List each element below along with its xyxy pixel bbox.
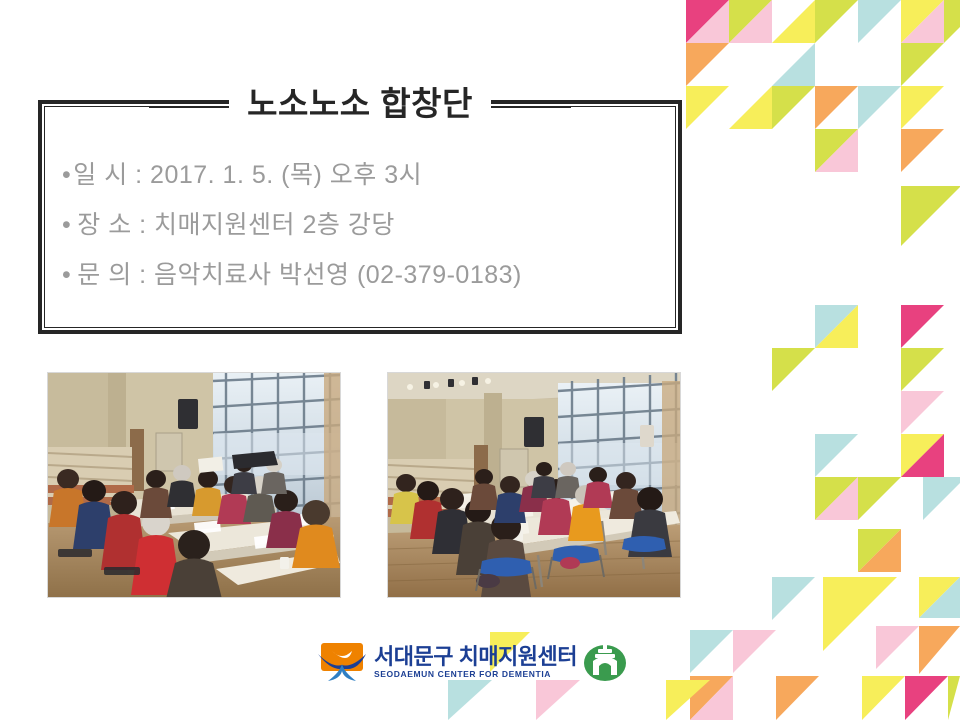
decorative-triangle — [862, 676, 905, 720]
page-title: 노소노소 합창단 — [229, 82, 491, 126]
decorative-triangle — [448, 680, 492, 720]
decorative-triangle — [901, 43, 944, 86]
decorative-triangle — [901, 391, 944, 434]
decorative-triangle — [858, 86, 901, 129]
decorative-triangle — [690, 676, 733, 720]
photo-right-graphic — [388, 373, 680, 597]
decorative-triangle — [772, 43, 815, 86]
decorative-triangle — [823, 577, 897, 651]
logo-text-block: 서대문구 치매지원센터 SEODAEMUN CENTER FOR DEMENTI… — [374, 645, 577, 680]
decorative-triangle — [815, 477, 858, 520]
list-item: • 문 의 : 음악치료사 박선영 (02-379-0183) — [62, 250, 672, 300]
list-item: • 일 시 : 2017. 1. 5. (목) 오후 3시 — [62, 150, 672, 200]
decorative-triangle — [690, 676, 733, 720]
decorative-triangle — [901, 186, 960, 246]
decorative-triangle — [944, 0, 960, 43]
decorative-triangle — [815, 0, 858, 43]
dementia-gate-badge-icon — [583, 641, 627, 683]
choir-rehearsal-photo-left — [47, 372, 341, 598]
title-rule-right — [491, 100, 571, 108]
decorative-triangle — [948, 676, 960, 720]
decorative-triangle — [686, 0, 729, 43]
decorative-triangle — [686, 43, 729, 86]
decorative-triangle — [901, 434, 944, 477]
decorative-triangle — [776, 676, 819, 720]
slide-canvas: 노소노소 합창단 • 일 시 : 2017. 1. 5. (목) 오후 3시 •… — [0, 0, 960, 720]
decorative-triangle — [901, 434, 944, 477]
decorative-triangle — [919, 577, 960, 618]
decorative-triangle — [901, 348, 944, 391]
decorative-triangle — [919, 626, 960, 674]
bullet-dot-icon: • — [62, 150, 71, 200]
decorative-triangle — [905, 676, 948, 720]
decorative-triangle — [772, 86, 815, 129]
decorative-triangle — [919, 577, 960, 618]
decorative-triangle — [815, 477, 858, 520]
seodaemun-symbol-icon — [316, 640, 368, 684]
title-rule-left — [149, 100, 229, 108]
decorative-triangle — [690, 630, 733, 673]
decorative-triangle — [772, 0, 815, 43]
decorative-triangle — [729, 0, 772, 43]
decorative-triangle — [686, 86, 729, 129]
decorative-triangle — [901, 0, 944, 43]
decorative-triangle — [729, 0, 772, 43]
choir-rehearsal-photo-right — [387, 372, 681, 598]
logo-name-english: SEODAEMUN CENTER FOR DEMENTIA — [374, 669, 577, 680]
title-banner: 노소노소 합창단 — [38, 80, 682, 128]
decorative-triangle — [815, 129, 858, 172]
logo-name-korean: 서대문구 치매지원센터 — [374, 645, 577, 669]
detail-list: • 일 시 : 2017. 1. 5. (목) 오후 3시 • 장 소 : 치매… — [62, 150, 672, 300]
detail-location: 장 소 : 치매지원센터 2층 강당 — [77, 200, 395, 250]
decorative-triangle — [666, 680, 710, 720]
decorative-triangle — [815, 305, 858, 348]
decorative-triangle — [536, 680, 580, 720]
decorative-triangle — [815, 86, 858, 129]
decorative-triangle — [901, 305, 944, 348]
decorative-triangle — [901, 86, 944, 129]
decorative-triangle — [923, 477, 960, 520]
bullet-dot-icon: • — [62, 200, 71, 250]
decorative-triangle — [815, 305, 858, 348]
decorative-triangle — [729, 86, 772, 129]
decorative-triangle — [772, 577, 815, 620]
decorative-triangle — [815, 434, 858, 477]
decorative-triangle — [858, 529, 901, 572]
detail-datetime: 일 시 : 2017. 1. 5. (목) 오후 3시 — [73, 150, 422, 200]
decorative-triangle — [901, 0, 944, 43]
decorative-triangle — [901, 129, 944, 172]
decorative-triangle — [858, 0, 901, 43]
decorative-triangle — [772, 348, 815, 391]
organization-logo: 서대문구 치매지원센터 SEODAEMUN CENTER FOR DEMENTI… — [316, 638, 648, 686]
decorative-triangle — [876, 626, 919, 669]
decorative-triangle — [858, 477, 901, 520]
decorative-triangle — [815, 129, 858, 172]
decorative-triangle — [858, 529, 901, 572]
detail-contact: 문 의 : 음악치료사 박선영 (02-379-0183) — [77, 250, 522, 300]
decorative-triangle — [686, 0, 729, 43]
list-item: • 장 소 : 치매지원센터 2층 강당 — [62, 200, 672, 250]
bullet-dot-icon: • — [62, 250, 71, 300]
decorative-triangle — [733, 630, 776, 673]
photo-left-graphic — [48, 373, 340, 597]
